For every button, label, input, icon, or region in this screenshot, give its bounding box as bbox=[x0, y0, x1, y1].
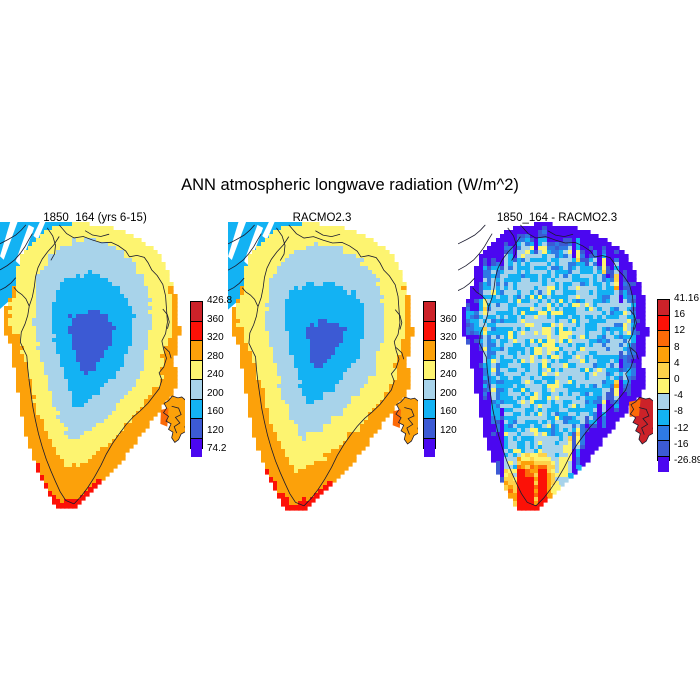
colorbar-model-tick-label: 120 bbox=[207, 426, 224, 436]
colorbar-diff-band bbox=[658, 426, 669, 442]
colorbar-model-band bbox=[191, 302, 202, 322]
colorbar-racmo-band bbox=[424, 439, 435, 458]
colorbar-racmo-band bbox=[424, 361, 435, 381]
colorbar-diff-swatches bbox=[657, 299, 670, 461]
colorbar-racmo-band bbox=[424, 302, 435, 322]
figure-canvas: ANN atmospheric longwave radiation (W/m^… bbox=[0, 0, 700, 700]
colorbar-model: 426.836032028024020016012074.2 bbox=[190, 301, 203, 449]
colorbar-racmo-tick-label: 160 bbox=[440, 407, 457, 417]
colorbar-diff-tick-label: 8 bbox=[674, 343, 680, 353]
colorbar-diff-band bbox=[658, 316, 669, 332]
colorbar-model-band bbox=[191, 341, 202, 361]
colorbar-model-tick-label: 200 bbox=[207, 389, 224, 399]
colorbar-model-tick-label: 160 bbox=[207, 407, 224, 417]
colorbar-diff-tick-label: 41.16 bbox=[674, 294, 699, 304]
colorbar-racmo-band bbox=[424, 400, 435, 420]
colorbar-model-tick-label: 240 bbox=[207, 370, 224, 380]
colorbar-diff-tick-label: -12 bbox=[674, 424, 688, 434]
colorbar-diff-tick-label: -16 bbox=[674, 440, 688, 450]
map-panel-model bbox=[0, 222, 185, 512]
colorbar-racmo: 360320280240200160120 bbox=[423, 301, 436, 449]
colorbar-racmo-swatches bbox=[423, 301, 436, 449]
colorbar-racmo-band bbox=[424, 341, 435, 361]
colorbar-diff-band bbox=[658, 379, 669, 395]
colorbar-model-tick-label: 280 bbox=[207, 352, 224, 362]
colorbar-diff-band bbox=[658, 441, 669, 457]
colorbar-model-swatches bbox=[190, 301, 203, 449]
colorbar-racmo-tick-label: 280 bbox=[440, 352, 457, 362]
colorbar-diff-tick-label: -26.89 bbox=[674, 456, 700, 466]
colorbar-racmo-tick-label: 240 bbox=[440, 370, 457, 380]
map-panel-diff bbox=[458, 222, 653, 514]
colorbar-model-tick-label: 74.2 bbox=[207, 444, 226, 454]
colorbar-diff-band bbox=[658, 300, 669, 316]
colorbar-diff-tick-label: -4 bbox=[674, 391, 683, 401]
colorbar-diff-tick-label: 12 bbox=[674, 326, 685, 336]
colorbar-model-tick-label: 360 bbox=[207, 315, 224, 325]
colorbar-diff-band bbox=[658, 363, 669, 379]
colorbar-diff-tick-label: 4 bbox=[674, 359, 680, 369]
colorbar-racmo-band bbox=[424, 380, 435, 400]
colorbar-model-tick-label: 320 bbox=[207, 333, 224, 343]
colorbar-model-band bbox=[191, 380, 202, 400]
colorbar-racmo-band bbox=[424, 419, 435, 439]
colorbar-diff-band bbox=[658, 347, 669, 363]
colorbar-diff-band bbox=[658, 410, 669, 426]
colorbar-diff-band bbox=[658, 457, 669, 472]
colorbar-diff: 41.161612840-4-8-12-16-26.89 bbox=[657, 299, 670, 461]
colorbar-model-band bbox=[191, 400, 202, 420]
map-panel-racmo bbox=[228, 222, 418, 514]
colorbar-racmo-tick-label: 120 bbox=[440, 426, 457, 436]
colorbar-racmo-tick-label: 320 bbox=[440, 333, 457, 343]
colorbar-model-band bbox=[191, 419, 202, 439]
colorbar-model-band bbox=[191, 361, 202, 381]
colorbar-model-band bbox=[191, 322, 202, 342]
figure-title: ANN atmospheric longwave radiation (W/m^… bbox=[0, 176, 700, 195]
colorbar-racmo-tick-label: 200 bbox=[440, 389, 457, 399]
colorbar-diff-band bbox=[658, 394, 669, 410]
colorbar-diff-tick-label: 16 bbox=[674, 310, 685, 320]
colorbar-model-band bbox=[191, 439, 202, 458]
colorbar-racmo-tick-label: 360 bbox=[440, 315, 457, 325]
colorbar-diff-band bbox=[658, 331, 669, 347]
colorbar-diff-tick-label: 0 bbox=[674, 375, 680, 385]
colorbar-diff-tick-label: -8 bbox=[674, 407, 683, 417]
colorbar-model-tick-label: 426.8 bbox=[207, 296, 232, 306]
colorbar-racmo-band bbox=[424, 322, 435, 342]
